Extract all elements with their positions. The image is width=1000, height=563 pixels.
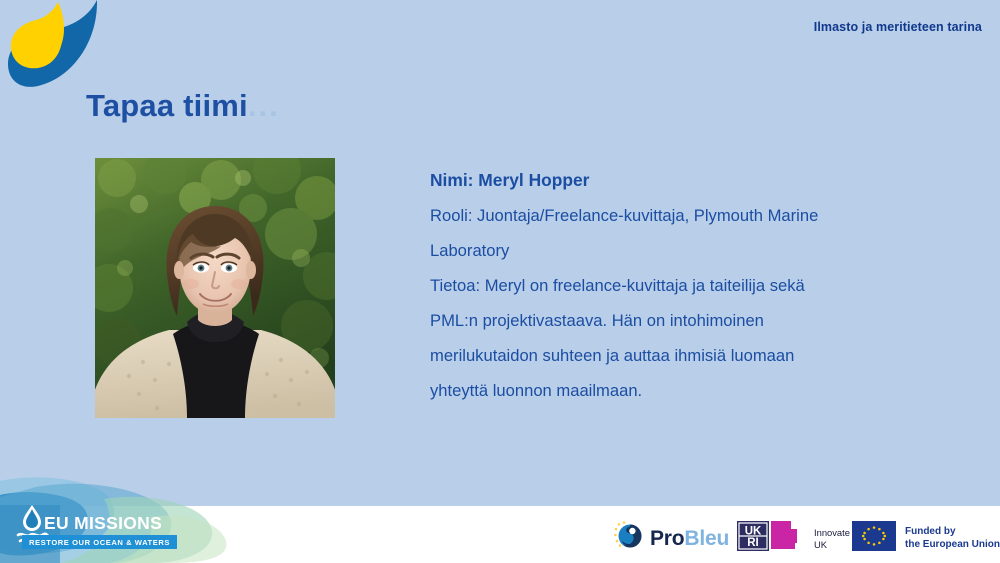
- bio-block: Nimi: Meryl Hopper Rooli: Juontaja/Freel…: [430, 163, 850, 408]
- eu-flag-icon: [852, 521, 896, 556]
- innovate-uk-label-line1: Innovate: [814, 527, 850, 538]
- page-title-text: Tapaa tiimi: [86, 88, 248, 123]
- page-title-dots: ...: [248, 88, 280, 123]
- innovate-uk-label: Innovate UK: [814, 527, 850, 550]
- page-title: Tapaa tiimi...: [86, 88, 280, 124]
- bio-name: Nimi: Meryl Hopper: [430, 163, 850, 198]
- probleu-word-bleu: Bleu: [684, 527, 729, 550]
- crescent-and-leaf-logo: [2, 0, 112, 96]
- probleu-word-pro: Pro: [650, 527, 684, 550]
- innovate-uk-logo: UK RI Innovate UK: [735, 519, 850, 558]
- eu-missions-wordmark: EU MISSIONS: [44, 513, 162, 534]
- probleu-wordmark: ProBleu: [650, 527, 729, 551]
- innovate-uk-label-line2: UK: [814, 539, 827, 550]
- eu-funding-logo: Funded by the European Union: [852, 521, 1000, 556]
- eu-funding-label-line2: the European Union: [905, 539, 1000, 550]
- probleu-logo: ProBleu: [613, 521, 729, 556]
- bio-role: Rooli: Juontaja/Freelance-kuvittaja, Ply…: [430, 198, 850, 268]
- ukri-mark-icon: UK RI: [735, 519, 807, 558]
- eu-missions-strapline: RESTORE OUR OCEAN & WATERS: [22, 535, 177, 549]
- bio-about: Tietoa: Meryl on freelance-kuvittaja ja …: [430, 268, 850, 408]
- probleu-globe-swirl-icon: [613, 521, 643, 556]
- team-member-photo: [95, 158, 335, 418]
- svg-text:RI: RI: [747, 537, 759, 549]
- eu-missions-word-missions: MISSIONS: [74, 513, 162, 533]
- slide-canvas: Ilmasto ja meritieteen tarina Tapaa tiim…: [0, 0, 1000, 563]
- eu-funding-label-line1: Funded by: [905, 526, 956, 537]
- header-right-label: Ilmasto ja meritieteen tarina: [814, 20, 982, 34]
- eu-funding-label: Funded by the European Union: [905, 526, 1000, 551]
- eu-missions-word-eu: EU: [44, 513, 69, 533]
